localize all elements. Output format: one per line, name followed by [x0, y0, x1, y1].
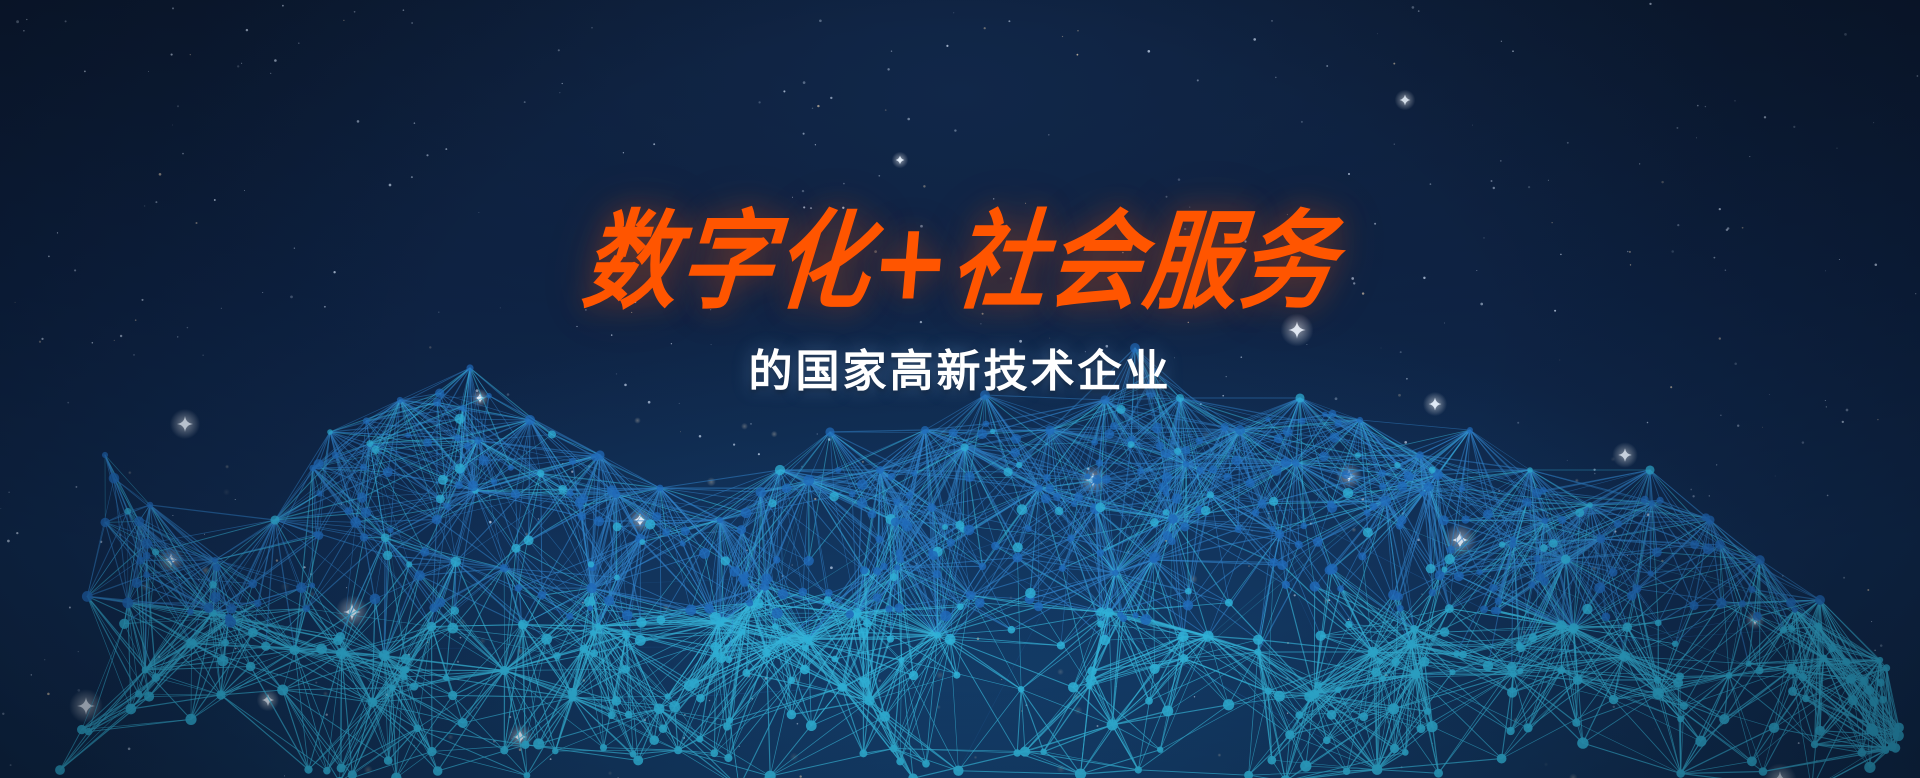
- banner-text-block: 数字化+社会服务 的国家高新技术企业: [0, 214, 1920, 399]
- hero-banner: 数字化+社会服务 的国家高新技术企业: [0, 0, 1920, 778]
- page-subtitle: 的国家高新技术企业: [0, 335, 1920, 399]
- page-title: 数字化+社会服务: [0, 207, 1920, 320]
